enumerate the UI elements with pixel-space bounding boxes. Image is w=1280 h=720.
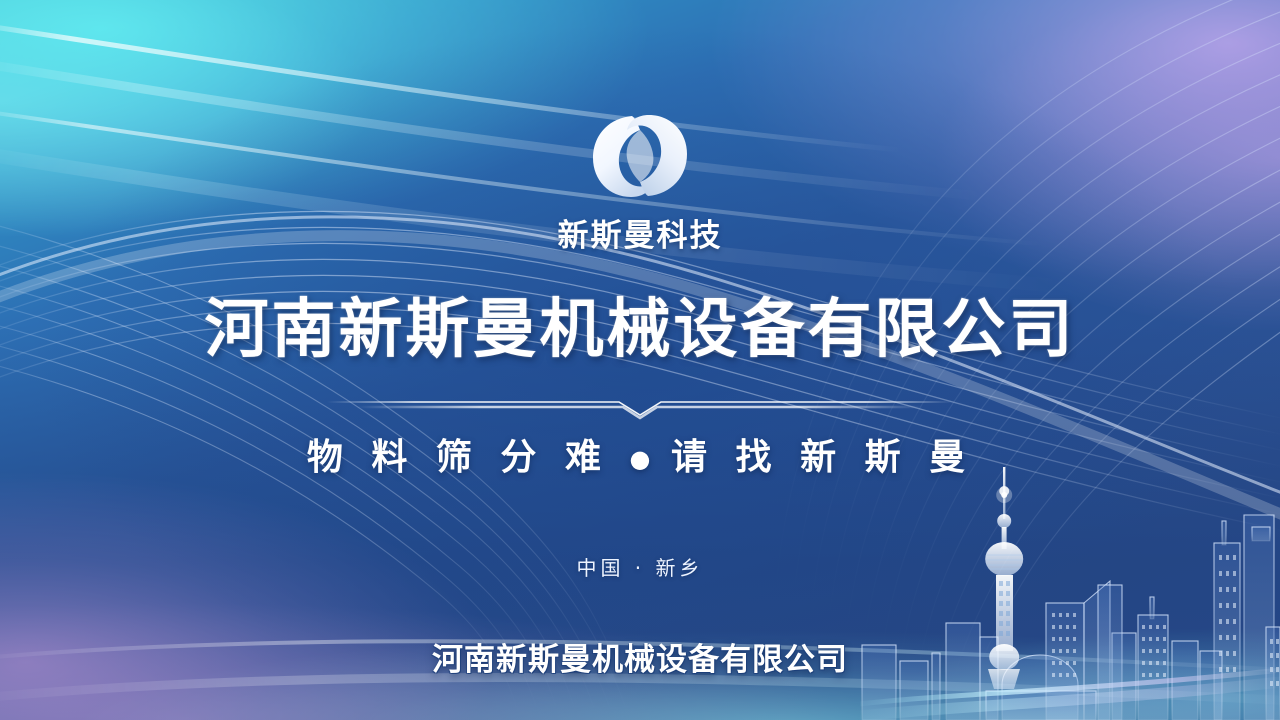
title-slide: 新斯曼科技 河南新斯曼机械设备有限公司 物 料 筛 分 难 ●	[0, 0, 1280, 720]
slogan-left: 物 料 筛 分 难	[307, 437, 609, 478]
ribbon-group-upper	[0, 211, 1280, 532]
interlocking-s-swirl-icon	[585, 108, 695, 204]
location-label: 中国 · 新乡	[0, 552, 1280, 581]
slogan-separator-dot: ●	[630, 445, 651, 473]
slogan: 物 料 筛 分 难 ● 请 找 新 斯 曼	[0, 428, 1280, 480]
page-title: 河南新斯曼机械设备有限公司	[0, 296, 1280, 363]
slogan-right: 请 找 新 斯 曼	[671, 437, 973, 478]
logo-block: 新斯曼科技	[0, 108, 1280, 255]
logo-wordmark: 新斯曼科技	[558, 210, 723, 255]
skyline-ground-glow-soft	[860, 681, 1280, 717]
city-skyline-icon	[860, 455, 1280, 720]
skyline-buildings	[862, 515, 1280, 720]
v-notch-divider-icon	[323, 396, 957, 420]
bottom-caption: 河南新斯曼机械设备有限公司	[0, 634, 1280, 679]
